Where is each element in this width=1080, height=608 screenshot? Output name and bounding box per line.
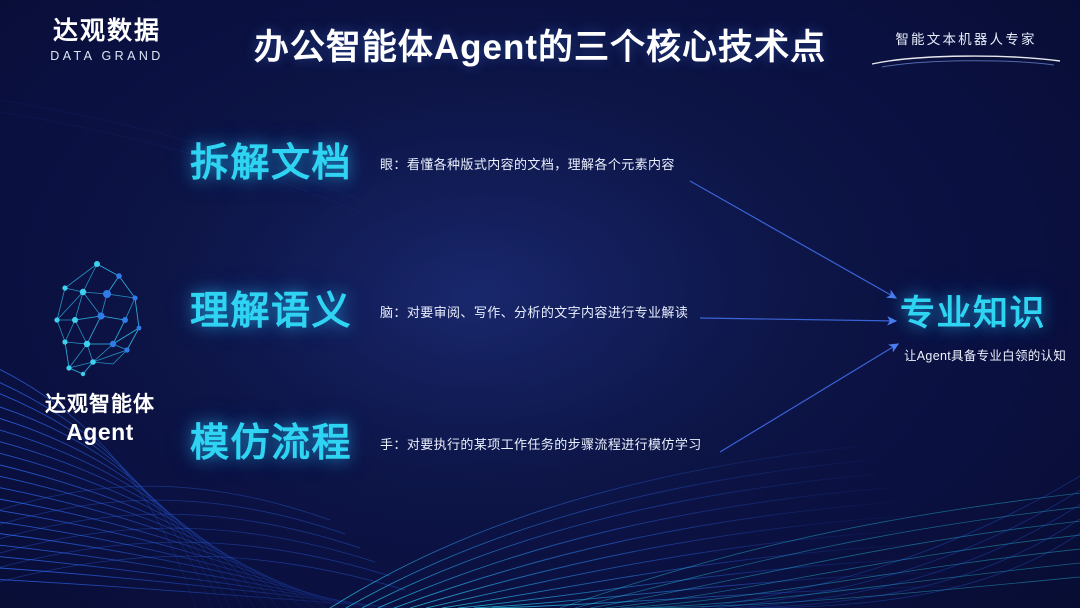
agent-name-en: Agent [14,419,186,446]
capability-description: 脑：对要审阅、写作、分析的文字内容进行专业解读 [380,302,688,321]
arrow-process-to-target [720,344,898,452]
swoosh-underline-icon [868,52,1064,68]
target-heading: 专业知识 [900,296,1080,331]
brand-tagline: 智能文本机器人专家 [868,28,1064,48]
arrow-decompose-to-target [690,181,896,298]
capability-row-semantics: 理解语义 脑：对要审阅、写作、分析的文字内容进行专业解读 [190,292,688,331]
capability-description: 手：对要执行的某项工作任务的步骤流程进行模仿学习 [380,434,702,453]
capability-heading: 理解语义 [190,292,352,331]
agent-identity-block: 达观智能体 Agent [14,258,186,446]
capability-heading: 拆解文档 [190,144,352,183]
arrow-semantics-to-target [700,318,896,321]
target-subtitle: 让Agent具备专业白领的认知 [904,345,1080,364]
presentation-slide: 达观数据 DATA GRAND 办公智能体Agent的三个核心技术点 智能文本机… [0,0,1080,608]
capability-row-decompose: 拆解文档 眼：看懂各种版式内容的文档，理解各个元素内容 [190,144,675,183]
capability-description: 眼：看懂各种版式内容的文档，理解各个元素内容 [380,154,675,173]
network-head-icon [35,258,165,380]
capability-heading: 模仿流程 [190,424,352,463]
capability-row-process: 模仿流程 手：对要执行的某项工作任务的步骤流程进行模仿学习 [190,424,702,463]
tagline-label: 智能文本机器人专家 [868,28,1064,48]
target-outcome-block: 专业知识 让Agent具备专业白领的认知 [900,296,1080,364]
agent-name-cn: 达观智能体 [14,388,186,418]
